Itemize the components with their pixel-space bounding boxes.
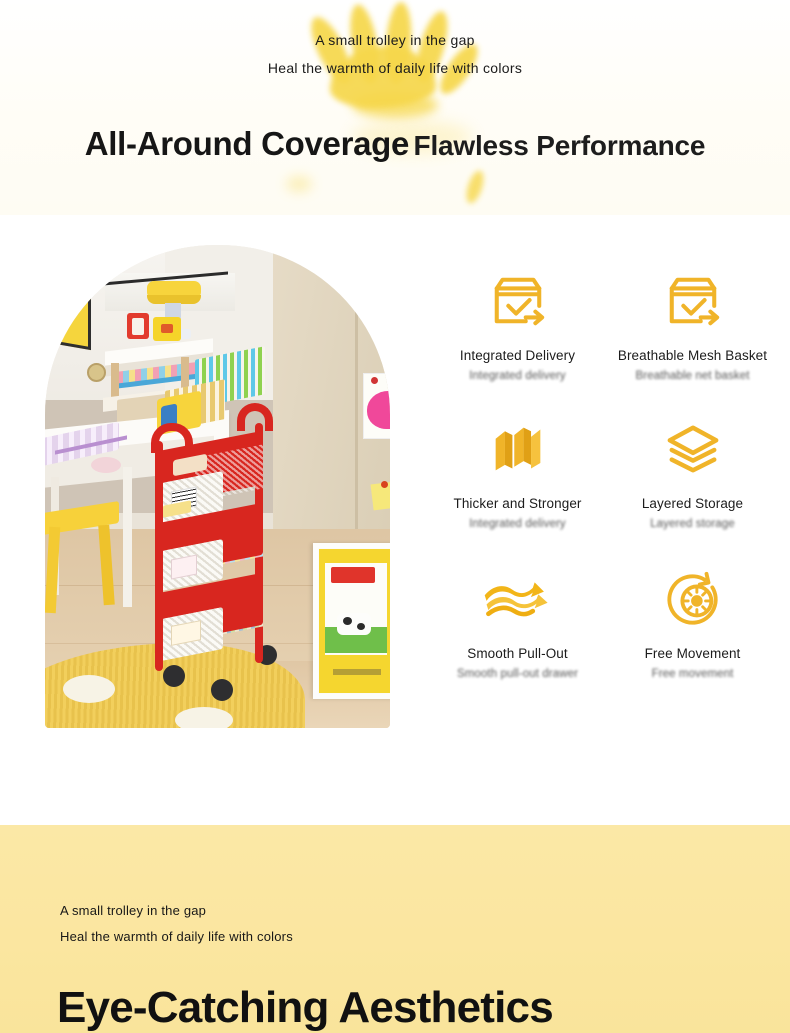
- layers-stack-icon: [656, 416, 730, 482]
- feature-subtitle: Integrated delivery: [469, 370, 566, 382]
- feature-subtitle: Breathable net basket: [636, 370, 750, 382]
- bottom-tagline-2: Heal the warmth of daily life with color…: [60, 929, 293, 944]
- feature-item-free-movement: Free Movement Free movement: [605, 556, 780, 706]
- feature-title: Smooth Pull-Out: [467, 646, 568, 661]
- feature-subtitle: Smooth pull-out drawer: [457, 668, 578, 680]
- feature-item-integrated-delivery: Integrated Delivery Integrated delivery: [430, 258, 605, 406]
- feature-title: Thicker and Stronger: [453, 496, 581, 511]
- flow-arrows-icon: [481, 566, 555, 632]
- package-check-arrow-icon: [656, 268, 730, 334]
- feature-item-thicker-and-stronger: Thicker and Stronger Integrated delivery: [430, 406, 605, 556]
- bottom-title: Eye-Catching Aesthetics: [57, 983, 553, 1033]
- product-photo: [45, 245, 390, 728]
- feature-item-layered-storage: Layered Storage Layered storage: [605, 406, 780, 556]
- feature-item-breathable-mesh-basket: Breathable Mesh Basket Breathable net ba…: [605, 258, 780, 406]
- feature-item-smooth-pull-out: Smooth Pull-Out Smooth pull-out drawer: [430, 556, 605, 706]
- feature-subtitle: Integrated delivery: [469, 518, 566, 530]
- headline-primary: All-Around Coverage: [85, 125, 409, 162]
- wheel-rotation-icon: [656, 566, 730, 632]
- banner-tagline-1: A small trolley in the gap: [0, 32, 790, 48]
- package-check-arrow-icon: [481, 268, 555, 334]
- feature-title: Integrated Delivery: [460, 348, 575, 363]
- feature-title: Free Movement: [645, 646, 741, 661]
- page-title: All-Around Coverage Flawless Performance: [0, 125, 790, 163]
- bottom-tagline-1: A small trolley in the gap: [60, 903, 206, 918]
- feature-subtitle: Free movement: [652, 668, 734, 680]
- feature-subtitle: Layered storage: [650, 518, 735, 530]
- feature-title: Layered Storage: [642, 496, 743, 511]
- thick-blocks-icon: [481, 416, 555, 482]
- feature-grid: Integrated Delivery Integrated delivery …: [430, 258, 780, 718]
- header-banner: A small trolley in the gap Heal the warm…: [0, 0, 790, 215]
- feature-title: Breathable Mesh Basket: [618, 348, 767, 363]
- banner-tagline-2: Heal the warmth of daily life with color…: [0, 60, 790, 76]
- headline-secondary: Flawless Performance: [414, 130, 706, 161]
